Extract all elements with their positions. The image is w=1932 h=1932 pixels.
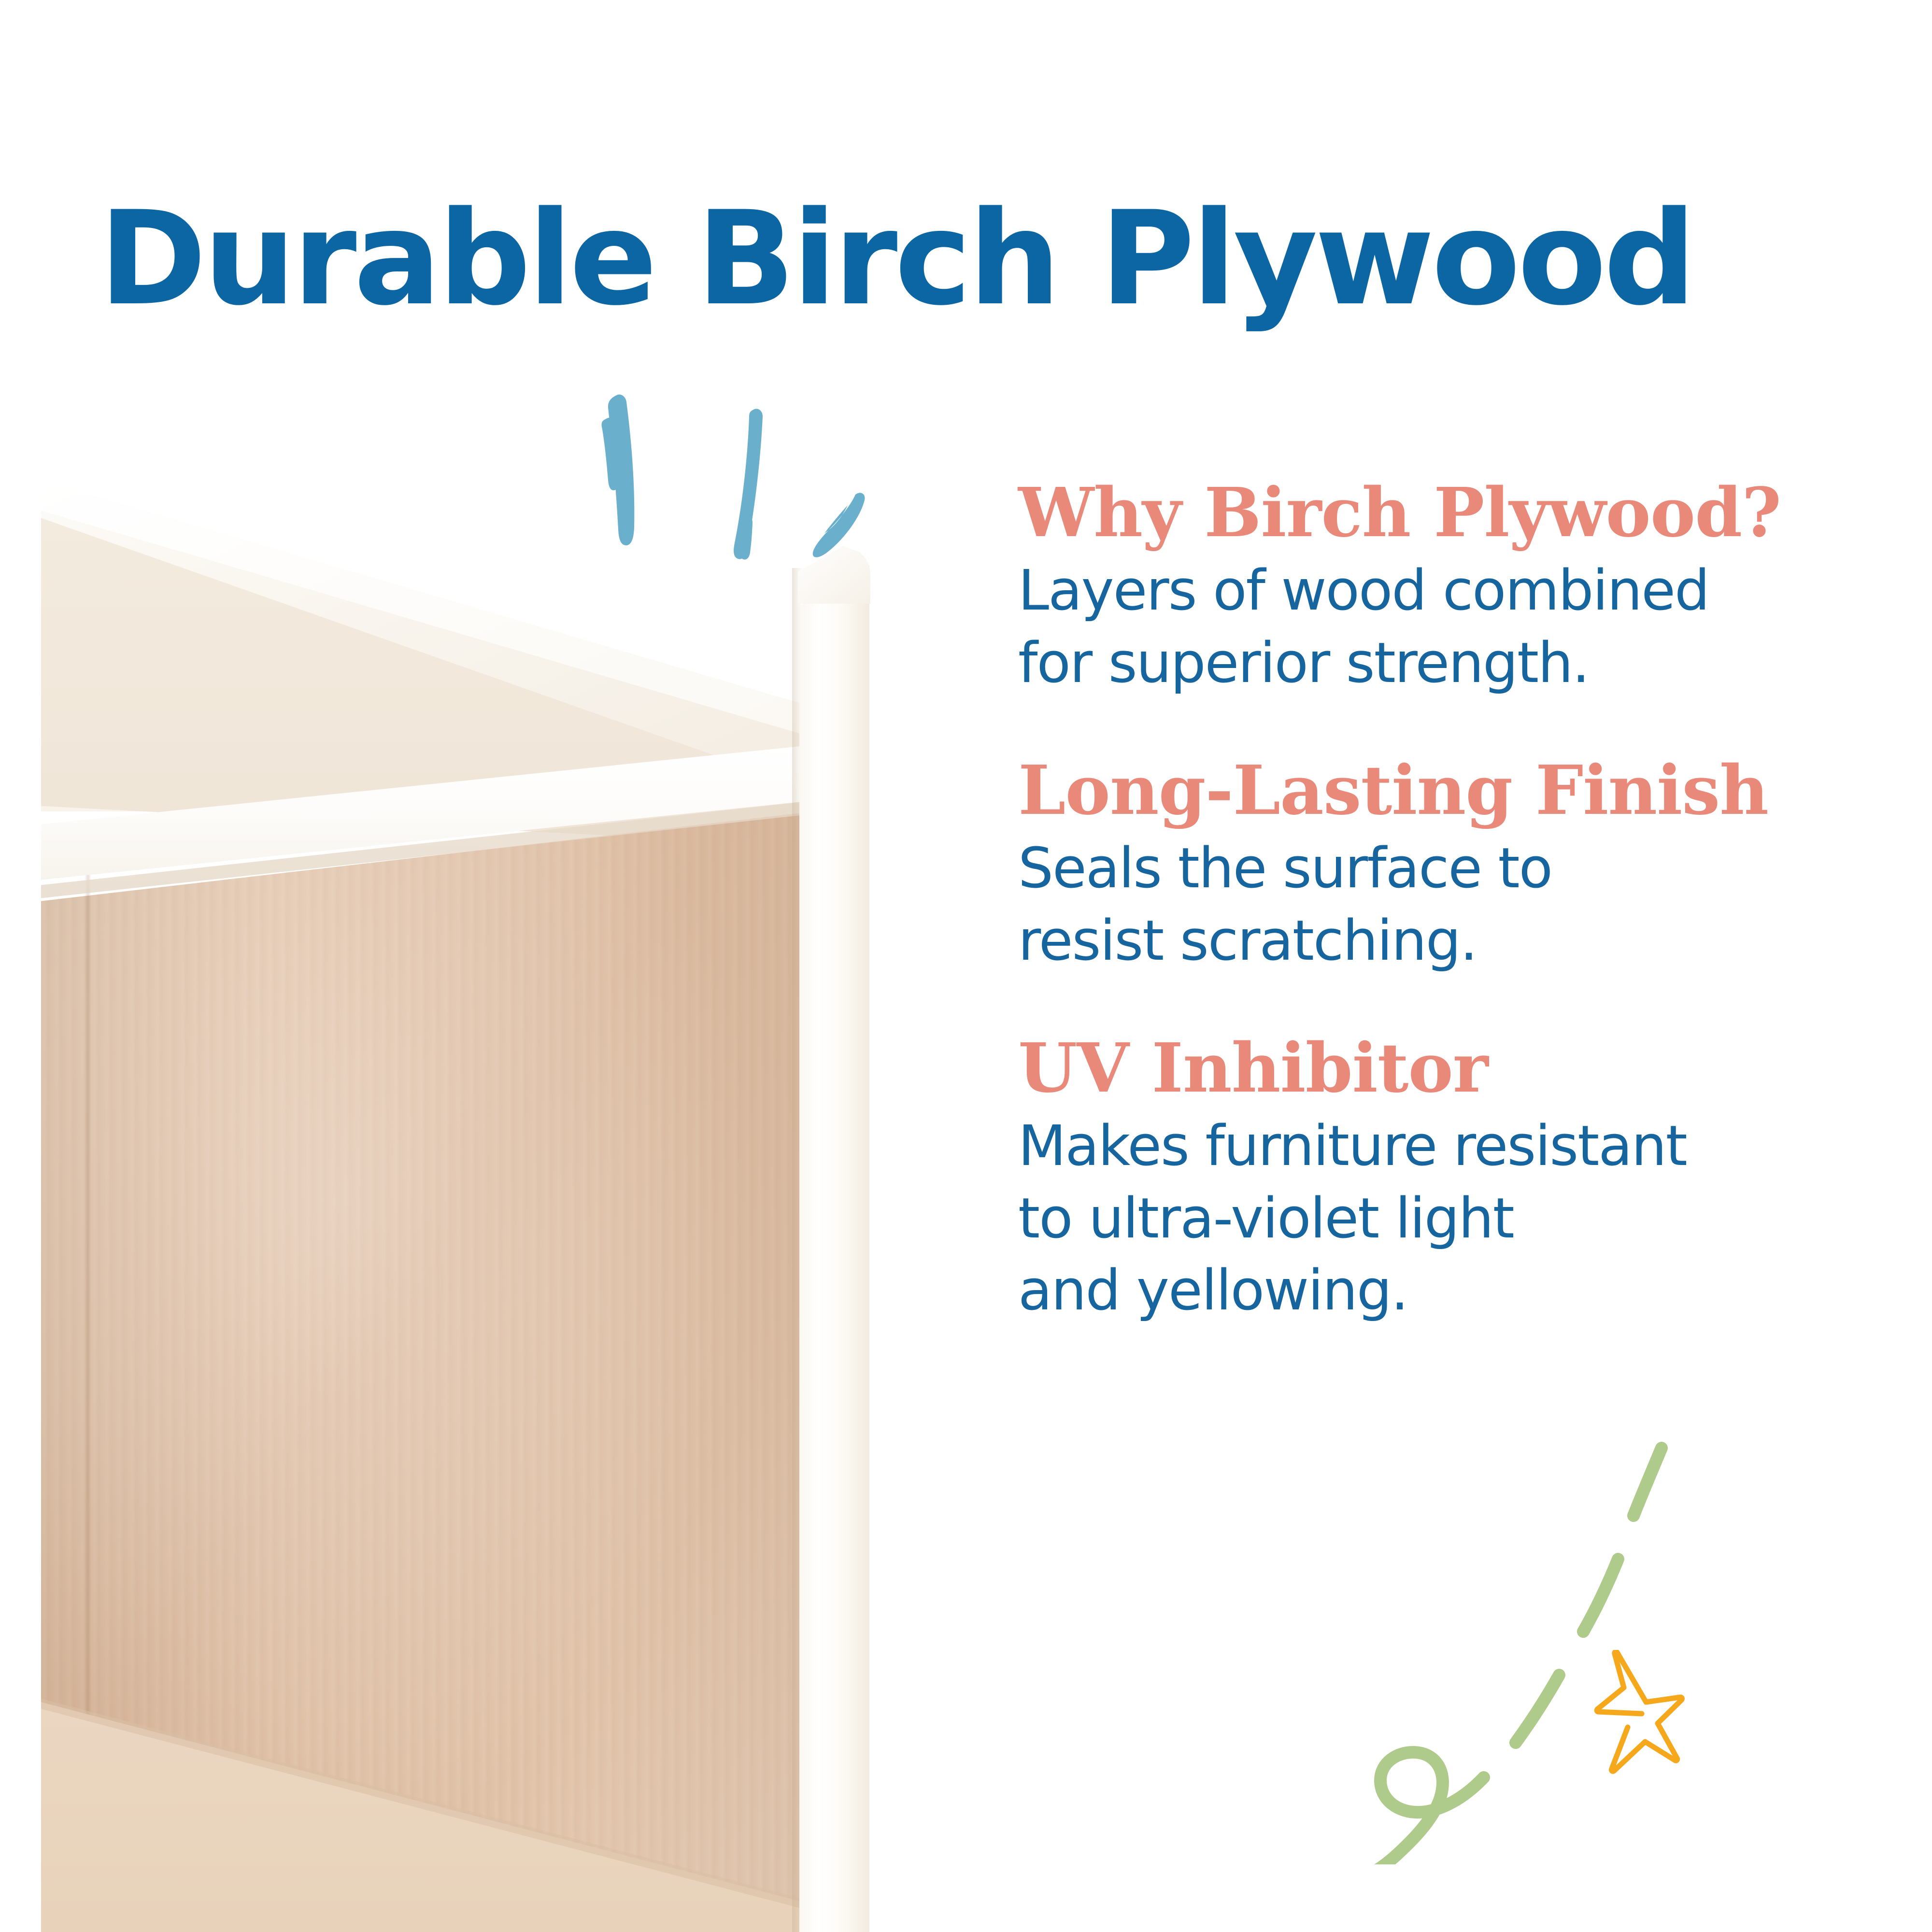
feature-heading: Long-Lasting Finish	[1018, 753, 1888, 828]
feature-block: Long-Lasting Finish Seals the surface to…	[1018, 753, 1888, 977]
hand-drawn-star-icon	[1592, 1650, 1732, 1790]
feature-heading: Why Birch Plywood?	[1018, 476, 1888, 550]
product-photo	[0, 473, 898, 1932]
feature-block: UV Inhibitor Makes furniture resistant t…	[1018, 1031, 1888, 1327]
feature-body-line: for superior strength.	[1018, 627, 1888, 700]
feature-body: Layers of wood combined for superior str…	[1018, 555, 1888, 699]
feature-body-line: Makes furniture resistant	[1018, 1110, 1888, 1183]
feature-body: Makes furniture resistant to ultra-viole…	[1018, 1110, 1888, 1327]
feature-body: Seals the surface to resist scratching.	[1018, 833, 1888, 977]
feature-body-line: Layers of wood combined	[1018, 555, 1888, 627]
feature-body-line: resist scratching.	[1018, 905, 1888, 978]
features-column: Why Birch Plywood? Layers of wood combin…	[1018, 476, 1888, 1327]
sparkle-strokes-icon	[587, 386, 925, 589]
infographic-canvas: Durable Birch Plywood	[0, 0, 1932, 1932]
feature-body-line: and yellowing.	[1018, 1255, 1888, 1327]
page-title: Durable Birch Plywood	[99, 194, 1886, 324]
feature-heading: UV Inhibitor	[1018, 1031, 1888, 1106]
feature-body-line: Seals the surface to	[1018, 833, 1888, 905]
feature-body-line: to ultra-violet light	[1018, 1183, 1888, 1255]
curved-dashed-arrow-icon	[1038, 1430, 1724, 1864]
feature-block: Why Birch Plywood? Layers of wood combin…	[1018, 476, 1888, 699]
white-right-frame-post	[799, 565, 869, 1932]
